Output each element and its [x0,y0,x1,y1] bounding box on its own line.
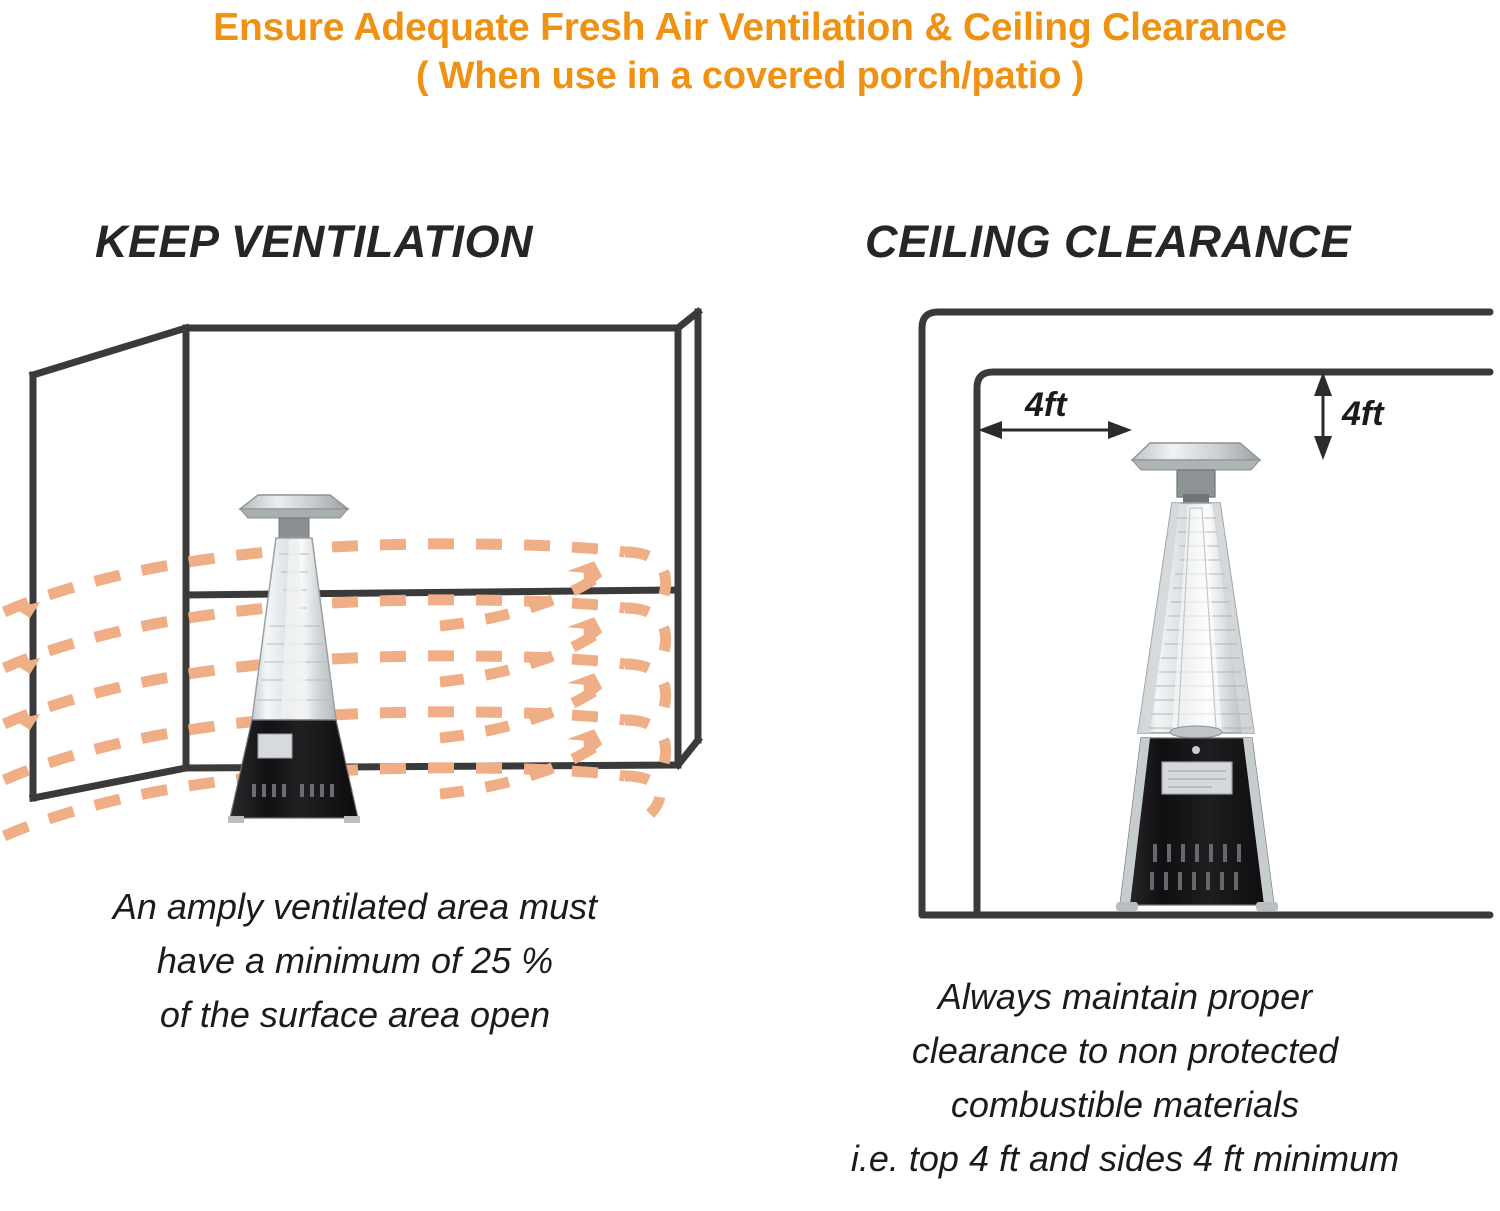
top-clearance-dimension: 4ft [1314,372,1385,460]
patio-heater-illustration-right [1116,443,1278,911]
caption-clearance-line-2: clearance to non protected [750,1024,1500,1078]
panel-heading-ceiling-clearance: CEILING CLEARANCE [865,216,1351,268]
caption-ventilation: An amply ventilated area must have a min… [10,880,700,1042]
page-title: Ensure Adequate Fresh Air Ventilation & … [0,4,1500,100]
caption-ventilation-line-3: of the surface area open [10,988,700,1042]
airflow-curl-3 [625,664,666,714]
airflow-curl-2 [625,608,666,658]
caption-clearance-line-1: Always maintain proper [750,970,1500,1024]
caption-clearance-line-3: combustible materials [750,1078,1500,1132]
ceiling-clearance-diagram: 4ft 4ft [850,280,1500,960]
caption-clearance-line-4: i.e. top 4 ft and sides 4 ft minimum [750,1132,1500,1186]
airflow-curl-1 [625,552,666,602]
airflow-curl-5 [625,776,660,814]
caption-ventilation-line-2: have a minimum of 25 % [10,934,700,988]
title-line-2: ( When use in a covered porch/patio ) [0,52,1500,100]
side-clearance-dimension: 4ft [978,386,1132,439]
caption-ventilation-line-1: An amply ventilated area must [10,880,700,934]
panel-heading-keep-ventilation: KEEP VENTILATION [95,216,533,268]
ventilation-diagram [0,290,720,850]
title-line-1: Ensure Adequate Fresh Air Ventilation & … [0,4,1500,52]
room-box-wireframe [33,312,698,798]
side-clearance-label: 4ft [1024,386,1068,424]
caption-clearance: Always maintain proper clearance to non … [750,970,1500,1186]
top-clearance-label: 4ft [1341,395,1385,433]
